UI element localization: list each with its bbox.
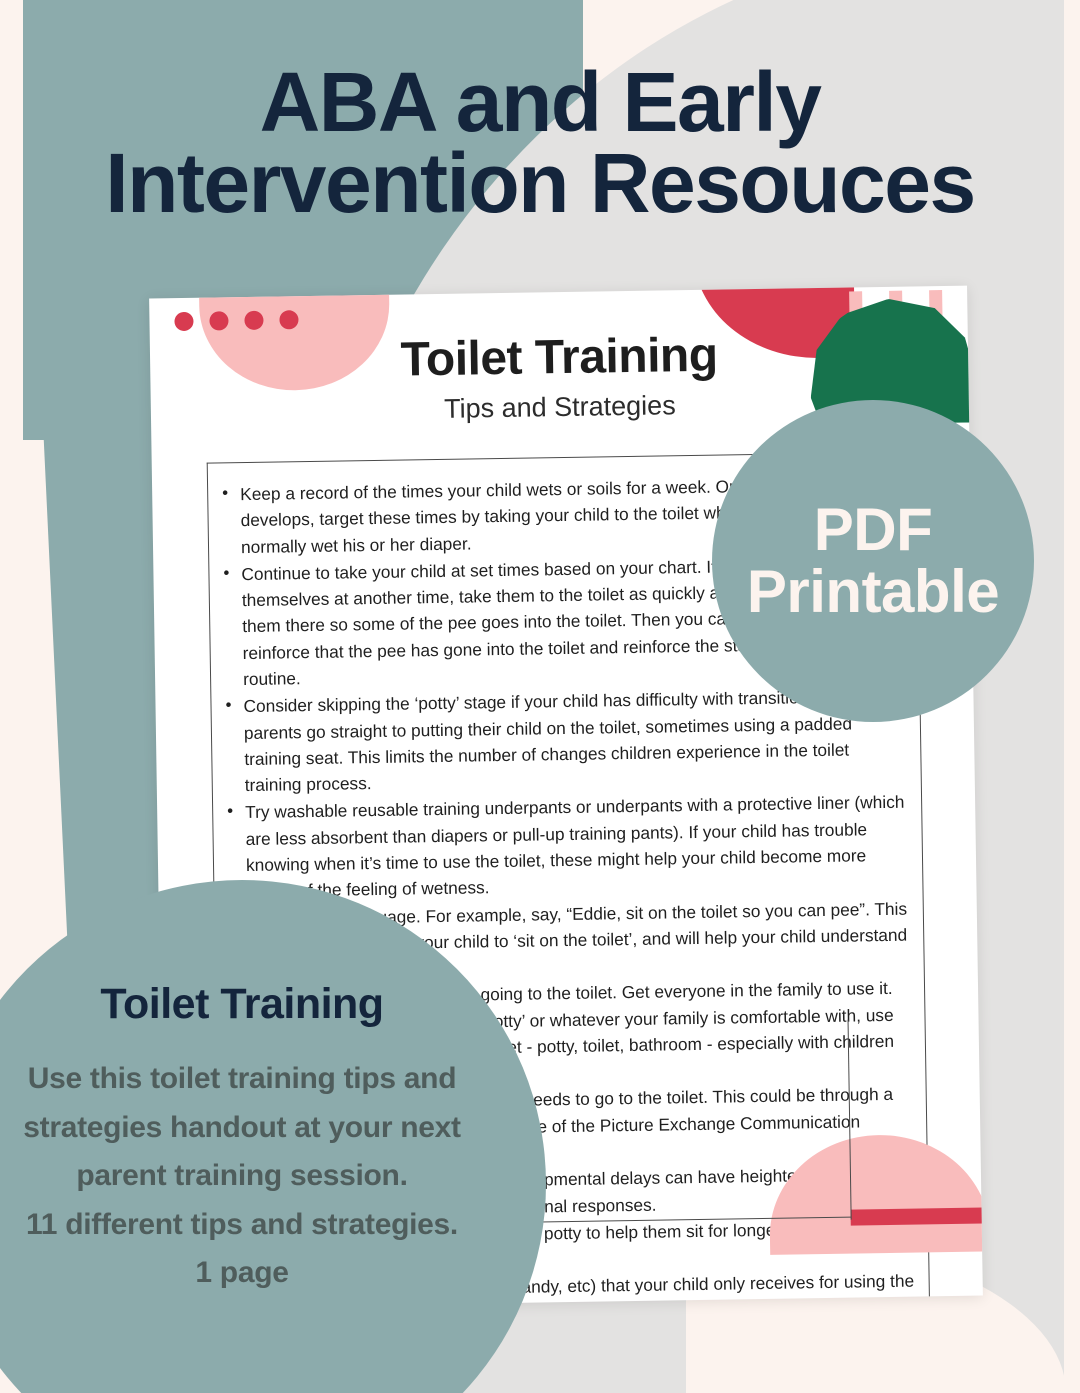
description-line-2: strategies handout at your next — [0, 1104, 487, 1153]
pdf-printable-badge: PDF Printable — [712, 400, 1034, 722]
description-line-1: Use this toilet training tips and — [0, 1055, 487, 1104]
description-badge-text: Use this toilet training tips and strate… — [0, 1055, 487, 1298]
red-bar-decoration — [851, 1207, 983, 1225]
description-line-4: 11 different tips and strategies. — [0, 1201, 487, 1250]
list-item: Try washable reusable training underpant… — [223, 789, 909, 905]
description-badge-title: Toilet Training — [100, 980, 383, 1029]
dot-icon — [174, 312, 193, 331]
dot-icon — [279, 310, 298, 329]
pdf-badge-line-2: Printable — [747, 561, 999, 623]
poster-title: ABA and Early Intervention Resouces — [0, 62, 1080, 225]
pdf-badge-line-1: PDF — [814, 499, 933, 561]
poster-title-line-2: Intervention Resouces — [0, 143, 1080, 224]
description-line-3: parent training session. — [0, 1152, 487, 1201]
poster-canvas: ABA and Early Intervention Resouces Toil… — [0, 0, 1080, 1393]
dot-icon — [244, 311, 263, 330]
dot-icon — [209, 311, 228, 330]
description-line-5: 1 page — [0, 1249, 487, 1298]
poster-title-line-1: ABA and Early — [0, 62, 1080, 143]
red-dots-decoration — [174, 310, 298, 331]
